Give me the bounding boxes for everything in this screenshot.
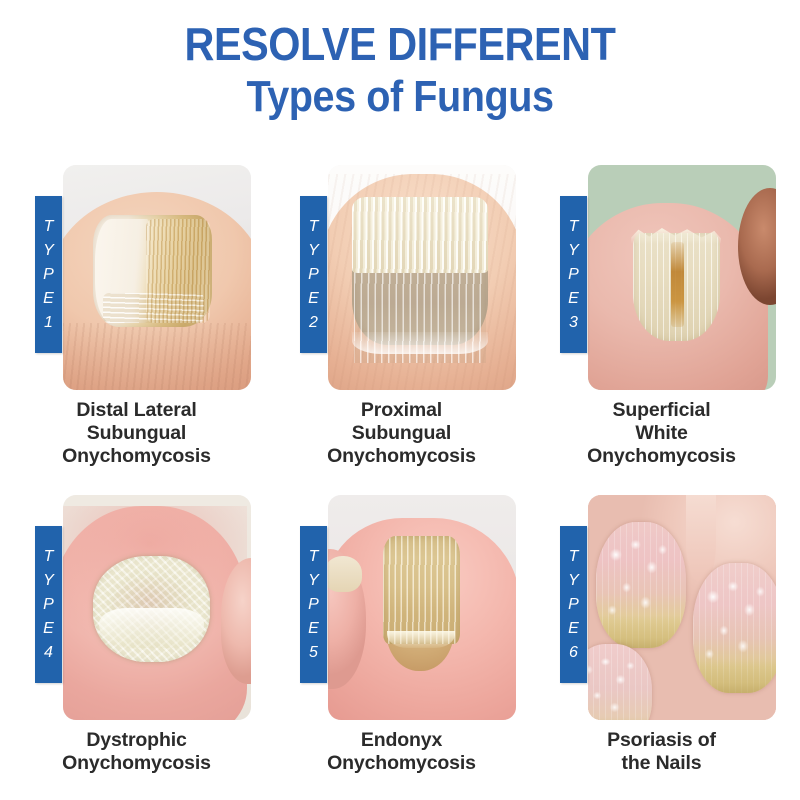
type-badge-2-letter-0: T <box>309 215 319 239</box>
type-badge-3-letter-0: T <box>569 215 579 239</box>
type-badge-2: T Y P E 2 <box>300 196 327 353</box>
type-badge-5-letter-0: T <box>309 545 319 569</box>
toenail-distal-lateral-subungual-onychomycosis-photo <box>63 165 251 390</box>
type-badge-6-letter-0: T <box>569 545 579 569</box>
caption-3-line-2: Onychomycosis <box>535 445 788 468</box>
fungus-types-poster: RESOLVE DIFFERENT Types of Fungus T Y P … <box>0 0 800 800</box>
type-badge-1-letter-0: T <box>44 215 54 239</box>
photo-card-1 <box>63 165 251 390</box>
type-badge-5-letter-2: P <box>308 593 319 617</box>
type-badge-3: T Y P E 3 <box>560 196 587 353</box>
toenail-dystrophic-onychomycosis-photo <box>63 495 251 720</box>
type-badge-6-letter-1: Y <box>568 569 579 593</box>
caption-6-line-1: the Nails <box>535 752 788 775</box>
caption-5-line-1: Onychomycosis <box>275 752 528 775</box>
type-badge-5-letter-3: E <box>308 617 319 641</box>
type-badge-1: T Y P E 1 <box>35 196 62 353</box>
photo-card-4 <box>63 495 251 720</box>
caption-2-line-0: Proximal <box>275 399 528 422</box>
type-badge-1-letter-4: 1 <box>44 311 53 335</box>
caption-4: Dystrophic Onychomycosis <box>10 729 263 775</box>
toenail-superficial-white-onychomycosis-photo <box>588 165 776 390</box>
caption-4-line-0: Dystrophic <box>10 729 263 752</box>
type-badge-2-letter-3: E <box>308 287 319 311</box>
type-badge-6-letter-4: 6 <box>569 641 578 665</box>
type-badge-3-letter-4: 3 <box>569 311 578 335</box>
fungus-types-grid: T Y P E 1 Distal Lateral Subungual Onych… <box>0 165 800 800</box>
caption-6: Psoriasis of the Nails <box>535 729 788 775</box>
toenail-endonyx-onychomycosis-photo <box>328 495 516 720</box>
type-badge-2-letter-2: P <box>308 263 319 287</box>
type-badge-1-letter-1: Y <box>43 239 54 263</box>
caption-1-line-1: Subungual <box>10 422 263 445</box>
type-badge-6: T Y P E 6 <box>560 526 587 683</box>
type-badge-4-letter-4: 4 <box>44 641 53 665</box>
photo-card-2 <box>328 165 516 390</box>
caption-5: Endonyx Onychomycosis <box>275 729 528 775</box>
type-badge-3-letter-3: E <box>568 287 579 311</box>
type-badge-3-letter-2: P <box>568 263 579 287</box>
toenail-proximal-subungual-onychomycosis-photo <box>328 165 516 390</box>
type-badge-5: T Y P E 5 <box>300 526 327 683</box>
photo-card-5 <box>328 495 516 720</box>
type-badge-1-letter-2: P <box>43 263 54 287</box>
type-badge-2-letter-1: Y <box>308 239 319 263</box>
page-title: RESOLVE DIFFERENT Types of Fungus <box>0 18 800 124</box>
grid-row-1: T Y P E 1 Distal Lateral Subungual Onych… <box>0 165 800 495</box>
caption-3-line-1: White <box>535 422 788 445</box>
caption-2-line-2: Onychomycosis <box>275 445 528 468</box>
type-badge-2-letter-4: 2 <box>309 311 318 335</box>
caption-3-line-0: Superficial <box>535 399 788 422</box>
caption-1-line-2: Onychomycosis <box>10 445 263 468</box>
caption-1: Distal Lateral Subungual Onychomycosis <box>10 399 263 468</box>
page-title-line-1: RESOLVE DIFFERENT <box>40 18 760 70</box>
type-badge-4-letter-0: T <box>44 545 54 569</box>
caption-1-line-0: Distal Lateral <box>10 399 263 422</box>
type-badge-4: T Y P E 4 <box>35 526 62 683</box>
caption-2-line-1: Subungual <box>275 422 528 445</box>
page-title-line-2: Types of Fungus <box>40 70 760 124</box>
photo-card-3 <box>588 165 776 390</box>
caption-6-line-0: Psoriasis of <box>535 729 788 752</box>
photo-card-6 <box>588 495 776 720</box>
type-badge-5-letter-4: 5 <box>309 641 318 665</box>
type-badge-1-letter-3: E <box>43 287 54 311</box>
caption-4-line-1: Onychomycosis <box>10 752 263 775</box>
type-badge-4-letter-3: E <box>43 617 54 641</box>
type-badge-3-letter-1: Y <box>568 239 579 263</box>
type-badge-5-letter-1: Y <box>308 569 319 593</box>
fingernails-psoriasis-of-the-nails-photo <box>588 495 776 720</box>
type-badge-6-letter-3: E <box>568 617 579 641</box>
caption-2: Proximal Subungual Onychomycosis <box>275 399 528 468</box>
type-badge-6-letter-2: P <box>568 593 579 617</box>
grid-row-2: T Y P E 4 Dystrophic Onychomycosis <box>0 495 800 800</box>
type-badge-4-letter-2: P <box>43 593 54 617</box>
caption-5-line-0: Endonyx <box>275 729 528 752</box>
type-badge-4-letter-1: Y <box>43 569 54 593</box>
caption-3: Superficial White Onychomycosis <box>535 399 788 468</box>
